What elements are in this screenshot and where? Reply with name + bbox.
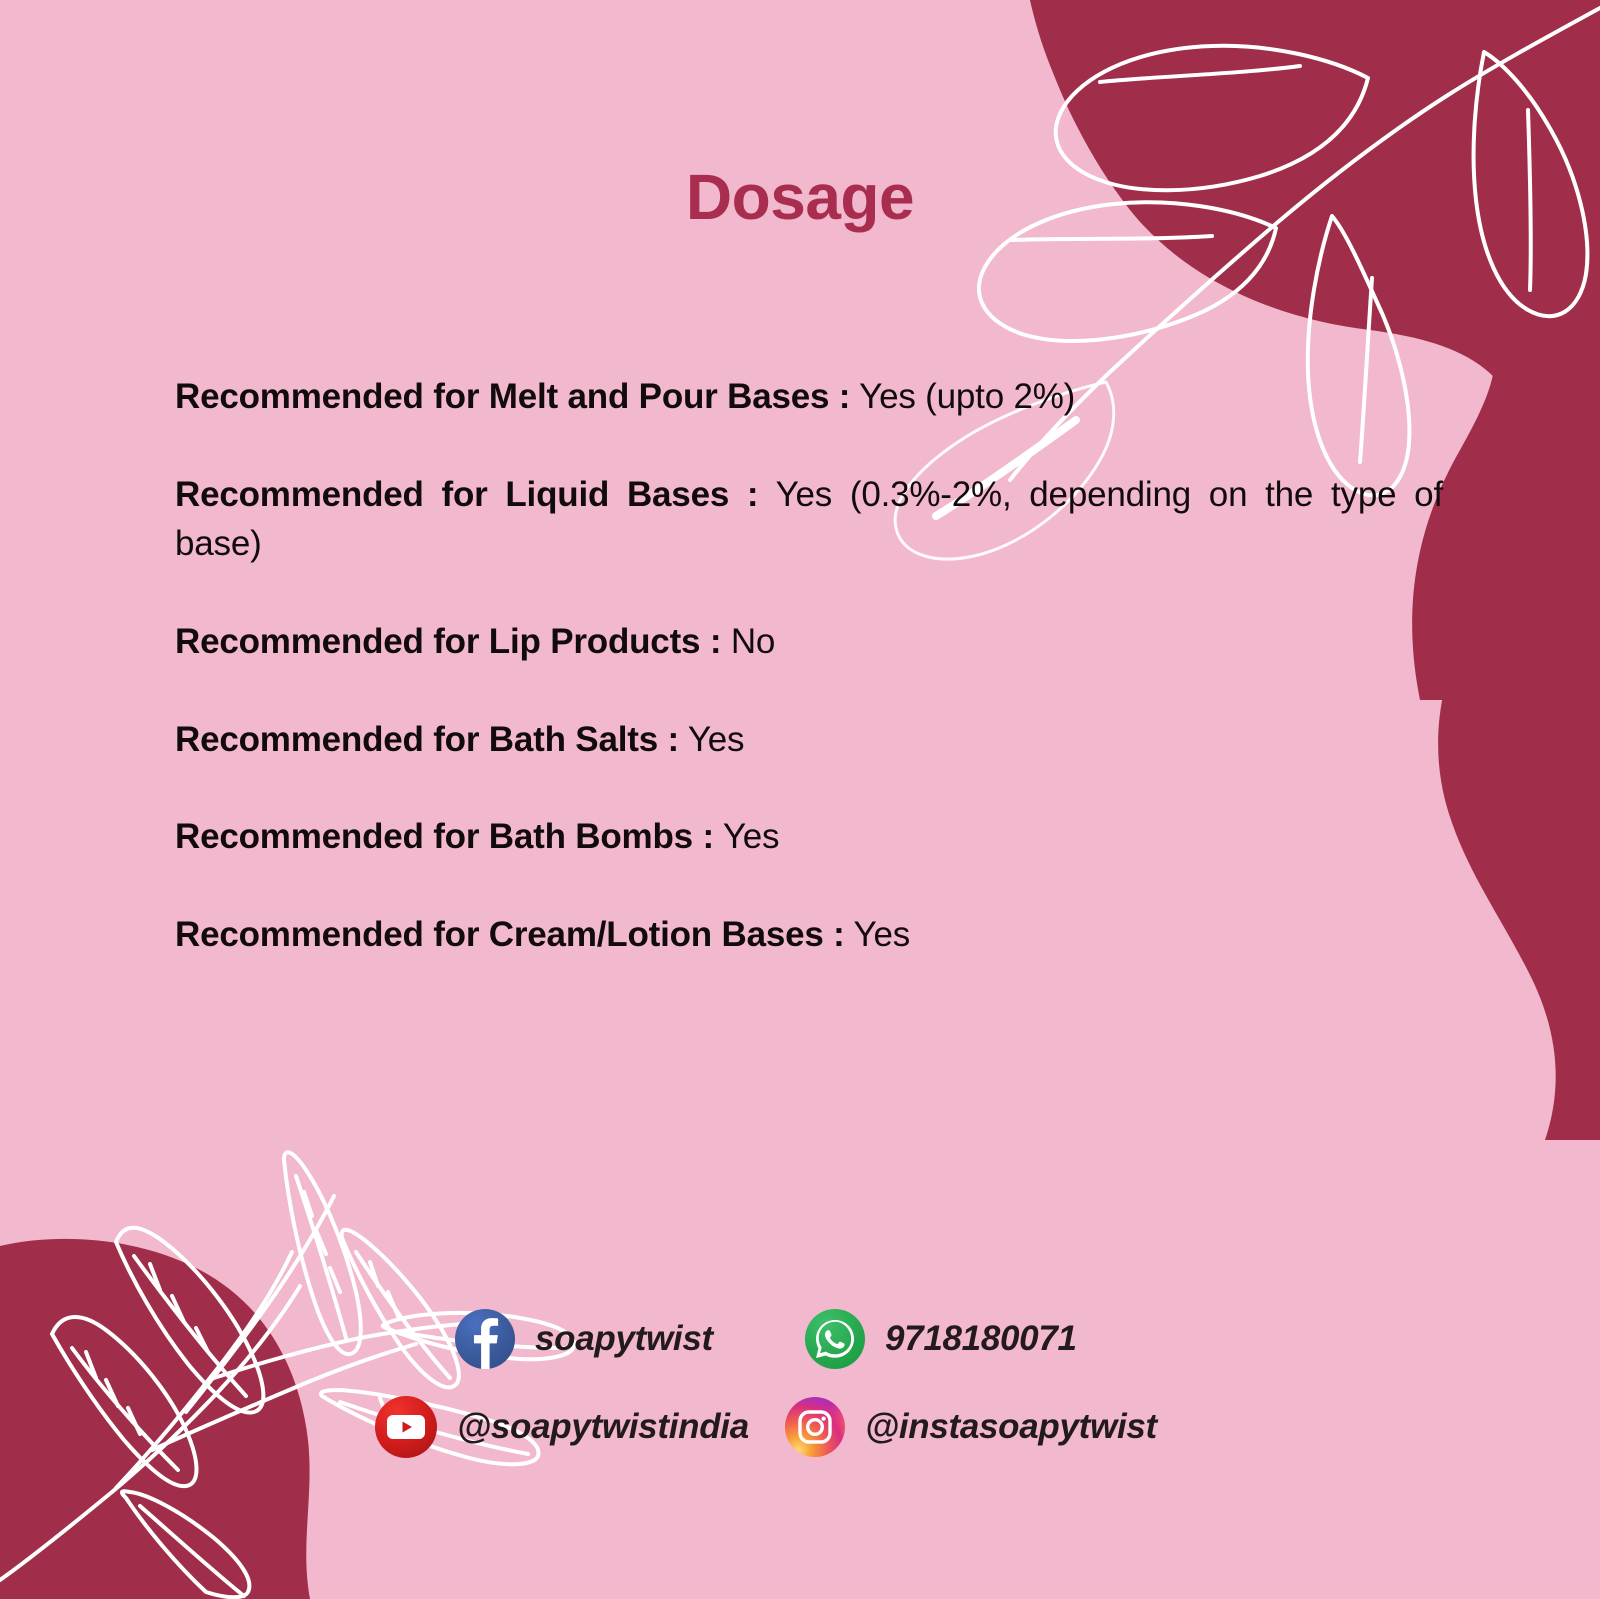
whatsapp-icon[interactable] (805, 1309, 865, 1369)
poster-canvas: Dosage Recommended for Melt and Pour Bas… (0, 0, 1600, 1599)
social-item-instagram[interactable]: @instasoapytwist (785, 1397, 1235, 1457)
instagram-icon[interactable] (785, 1397, 845, 1457)
facebook-icon[interactable] (455, 1309, 515, 1369)
dosage-row-value: Yes (688, 720, 745, 759)
social-handle: @instasoapytwist (865, 1407, 1157, 1447)
dosage-row-bath-salts: Recommended for Bath Salts : Yes (175, 715, 1443, 765)
youtube-icon[interactable] (375, 1396, 437, 1458)
social-handle: soapytwist (535, 1319, 713, 1359)
social-handle: @soapytwistindia (457, 1407, 749, 1447)
bottom-left-maroon-blob (0, 1239, 310, 1599)
social-item-youtube[interactable]: @soapytwistindia (375, 1396, 805, 1458)
dosage-row-label: Recommended for Bath Salts : (175, 720, 679, 759)
social-handle: 9718180071 (885, 1319, 1077, 1359)
dosage-row-label: Recommended for Liquid Bases : (175, 475, 758, 514)
dosage-row-value: Yes (854, 915, 911, 954)
dosage-row-liquid-bases: Recommended for Liquid Bases : Yes (0.3%… (175, 470, 1443, 569)
social-footer: soapytwist 9718180071 @soapytwistindia (455, 1295, 1235, 1471)
dosage-row-bath-bombs: Recommended for Bath Bombs : Yes (175, 812, 1443, 862)
dosage-row-lip-products: Recommended for Lip Products : No (175, 617, 1443, 667)
dosage-row-label: Recommended for Melt and Pour Bases : (175, 377, 850, 416)
dosage-row-melt-and-pour: Recommended for Melt and Pour Bases : Ye… (175, 372, 1443, 422)
social-item-whatsapp[interactable]: 9718180071 (805, 1309, 1235, 1369)
dosage-list: Recommended for Melt and Pour Bases : Ye… (175, 372, 1443, 960)
dosage-row-value: No (731, 622, 775, 661)
dosage-row-value: Yes (723, 817, 780, 856)
bottom-left-maroon-blob-fill (0, 1245, 307, 1599)
dosage-row-value: Yes (upto 2%) (859, 377, 1075, 416)
dosage-row-label: Recommended for Bath Bombs : (175, 817, 714, 856)
dosage-row-cream-lotion-bases: Recommended for Cream/Lotion Bases : Yes (175, 910, 1443, 960)
page-title: Dosage (0, 160, 1600, 234)
dosage-row-label: Recommended for Cream/Lotion Bases : (175, 915, 845, 954)
social-item-facebook[interactable]: soapytwist (455, 1309, 805, 1369)
dosage-row-label: Recommended for Lip Products : (175, 622, 721, 661)
